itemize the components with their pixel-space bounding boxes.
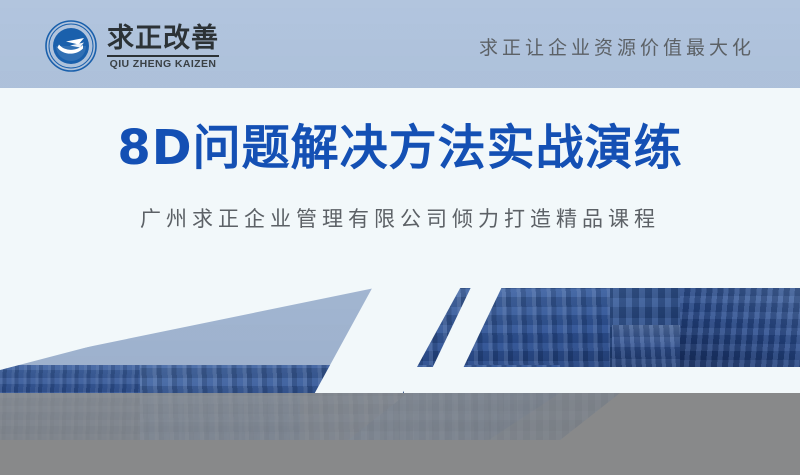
poster-header: 求正改善 QIU ZHENG KAIZEN 求正让企业资源价值最大化 — [0, 0, 800, 92]
course-poster: 求正改善 QIU ZHENG KAIZEN 求正让企业资源价值最大化 8D问题解… — [0, 0, 800, 475]
collage-panel-large-auditorium-seated-audience — [680, 283, 800, 367]
course-title: 8D问题解决方法实战演练 — [0, 120, 800, 177]
brand-name-cn: 求正改善 — [107, 25, 219, 53]
brand-wordmark: 求正改善 QIU ZHENG KAIZEN — [107, 23, 219, 70]
brand-lockup: 求正改善 QIU ZHENG KAIZEN — [45, 20, 219, 72]
brand-name-en: QIU ZHENG KAIZEN — [110, 59, 217, 70]
brand-divider-rule — [107, 55, 219, 57]
collage-panel-projector-screen-presentation — [612, 325, 690, 369]
course-subtitle: 广州求正企业管理有限公司倾力打造精品课程 — [0, 203, 800, 233]
diagonal-slash-right-notch — [404, 367, 800, 393]
company-tagline: 求正让企业资源价值最大化 — [479, 33, 755, 60]
qiuzheng-circular-seal-logo-icon — [45, 20, 97, 72]
headline-block: 8D问题解决方法实战演练 广州求正企业管理有限公司倾力打造精品课程 — [0, 120, 800, 233]
